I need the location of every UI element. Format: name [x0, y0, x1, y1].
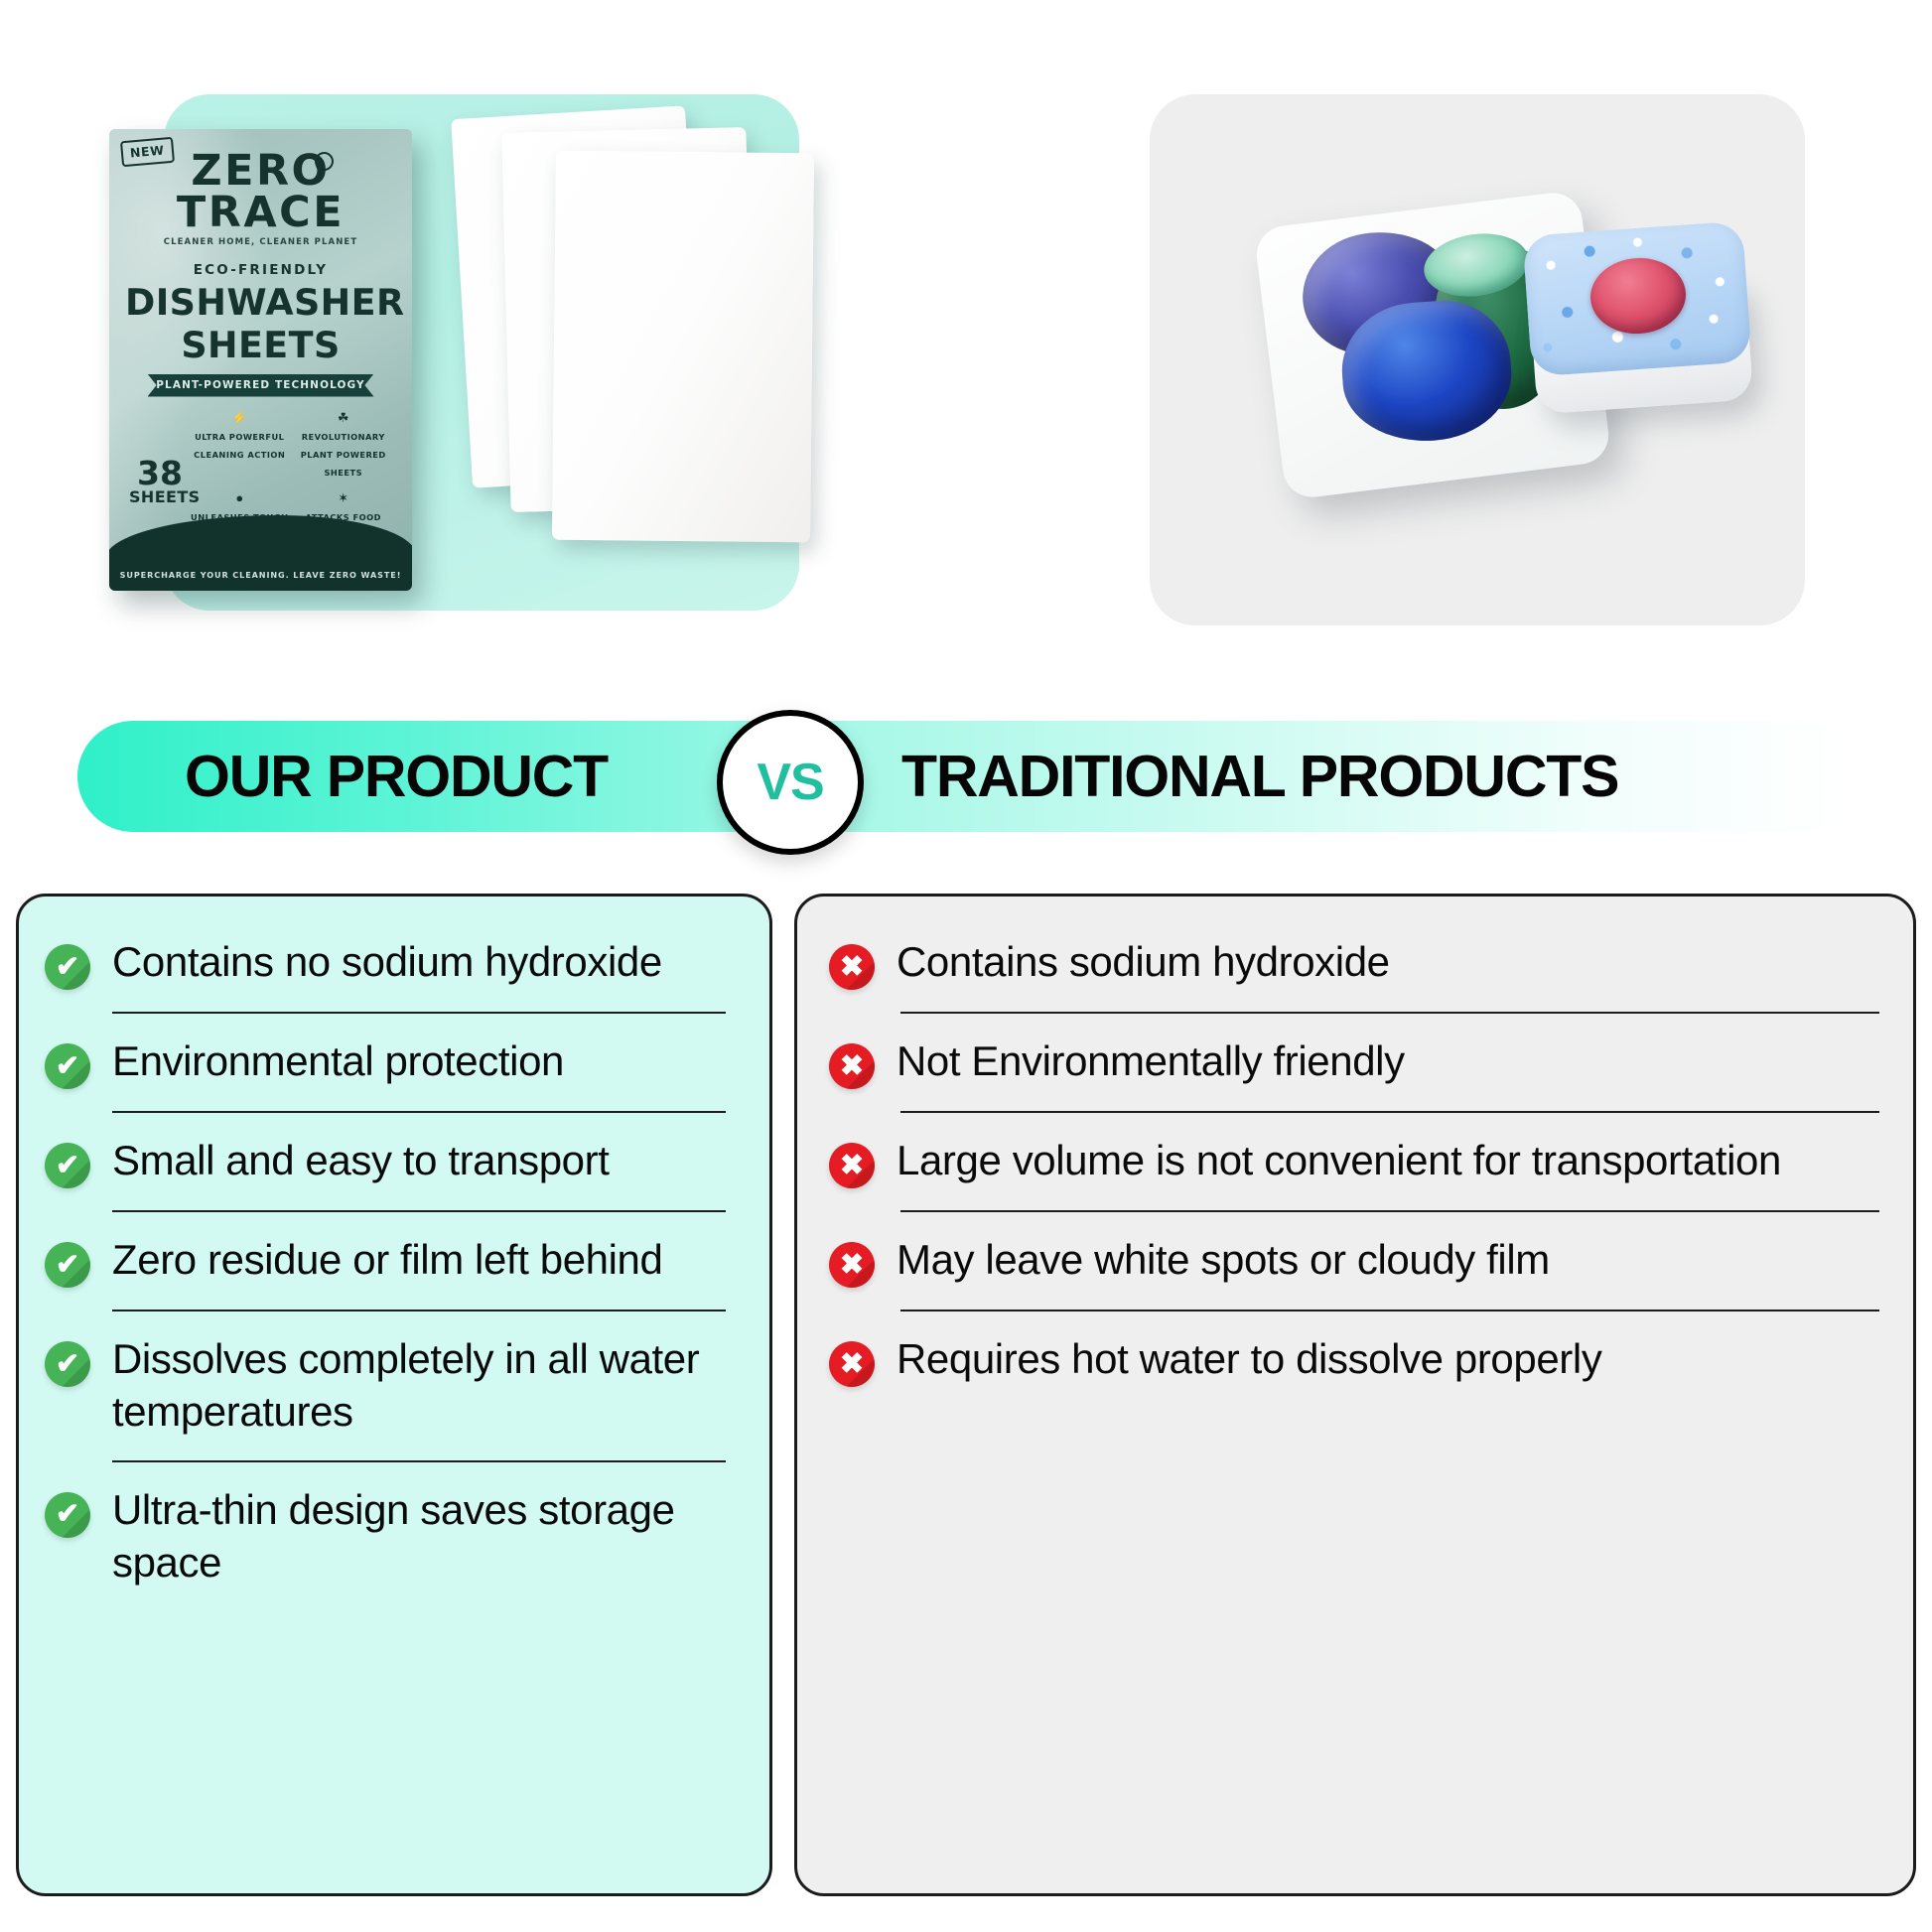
- list-item-label: Zero residue or film left behind: [112, 1234, 662, 1287]
- sheet-count-word: SHEETS: [129, 487, 191, 506]
- eco-friendly-label: ECO-FRIENDLY: [125, 262, 396, 278]
- package-title-line1: DISHWASHER: [125, 285, 396, 321]
- technology-ribbon: PLANT-POWERED TECHNOLOGY: [148, 374, 374, 397]
- list-divider: [900, 1310, 1879, 1311]
- brand-tagline: CLEANER HOME, CLEANER PLANET: [125, 237, 396, 247]
- list-item: ✔ Environmental protection: [45, 1035, 726, 1089]
- sheet-count-number: 38: [129, 459, 191, 488]
- list-item-label: Contains no sodium hydroxide: [112, 936, 662, 989]
- list-item: ✖ Not Environmentally friendly: [829, 1035, 1879, 1089]
- list-item: ✖ Large volume is not convenient for tra…: [829, 1135, 1879, 1188]
- check-icon: ✔: [45, 1492, 90, 1538]
- cross-icon: ✖: [829, 1143, 875, 1188]
- list-item: ✖ Requires hot water to dissolve properl…: [829, 1333, 1879, 1387]
- list-divider: [112, 1310, 726, 1311]
- check-icon: ✔: [45, 1341, 90, 1387]
- brand-lockup: ZERO TRACE CLEANER HOME, CLEANER PLANET: [125, 151, 396, 247]
- traditional-product-photo-panel: [1150, 94, 1805, 625]
- list-item-label: May leave white spots or cloudy film: [897, 1234, 1550, 1287]
- list-divider: [112, 1012, 726, 1014]
- check-icon: ✔: [45, 1242, 90, 1288]
- our-product-benefits-card: ✔ Contains no sodium hydroxide ✔ Environ…: [16, 894, 772, 1896]
- list-divider: [112, 1111, 726, 1113]
- cross-icon: ✖: [829, 944, 875, 990]
- list-item: ✔ Small and easy to transport: [45, 1135, 726, 1188]
- detergent-tablet-image: [1527, 228, 1760, 427]
- our-product-photo-panel: NEW ZERO TRACE CLEANER HOME, CLEANER PLA…: [164, 94, 799, 611]
- package-title-line2: SHEETS: [125, 328, 396, 363]
- brand-name-trace: TRACE: [125, 192, 396, 234]
- banner-traditional-products-label: TRADITIONAL PRODUCTS: [901, 713, 1618, 840]
- banner-our-product-label: OUR PRODUCT: [185, 713, 608, 840]
- bubbles-icon: ●: [191, 491, 289, 504]
- package-feature-item: ⚡ ULTRA POWERFUL CLEANING ACTION: [191, 411, 289, 481]
- traditional-product-drawbacks-card: ✖ Contains sodium hydroxide ✖ Not Enviro…: [794, 894, 1916, 1896]
- vs-label: VS: [757, 753, 823, 812]
- package-footer-text: SUPERCHARGE YOUR CLEANING. LEAVE ZERO WA…: [109, 570, 412, 580]
- list-divider: [112, 1460, 726, 1462]
- product-package: NEW ZERO TRACE CLEANER HOME, CLEANER PLA…: [109, 129, 412, 591]
- vs-banner: OUR PRODUCT VS TRADITIONAL PRODUCTS: [77, 713, 1855, 840]
- dishwasher-sheet-front: [552, 151, 814, 543]
- list-item-label: Ultra-thin design saves storage space: [112, 1484, 726, 1589]
- lightning-icon: ⚡: [191, 411, 289, 424]
- leaf-sheet-icon: ☘: [295, 411, 393, 424]
- list-item-label: Not Environmentally friendly: [897, 1035, 1405, 1088]
- list-divider: [900, 1012, 1879, 1014]
- cross-icon: ✖: [829, 1043, 875, 1089]
- hero-row: NEW ZERO TRACE CLEANER HOME, CLEANER PLA…: [0, 0, 1932, 685]
- list-item-label: Contains sodium hydroxide: [897, 936, 1390, 989]
- list-item-label: Requires hot water to dissolve properly: [897, 1333, 1601, 1386]
- check-icon: ✔: [45, 1043, 90, 1089]
- list-divider: [900, 1111, 1879, 1113]
- list-item: ✔ Ultra-thin design saves storage space: [45, 1484, 726, 1589]
- list-item: ✔ Dissolves completely in all water temp…: [45, 1333, 726, 1439]
- list-item-label: Environmental protection: [112, 1035, 564, 1088]
- list-divider: [900, 1210, 1879, 1212]
- check-icon: ✔: [45, 944, 90, 990]
- list-item: ✖ May leave white spots or cloudy film: [829, 1234, 1879, 1288]
- check-icon: ✔: [45, 1143, 90, 1188]
- list-item: ✔ Contains no sodium hydroxide: [45, 936, 726, 990]
- package-feature-text: REVOLUTIONARY PLANT POWERED SHEETS: [301, 432, 386, 478]
- list-item-label: Small and easy to transport: [112, 1135, 609, 1187]
- list-item: ✔ Zero residue or film left behind: [45, 1234, 726, 1288]
- list-divider: [112, 1210, 726, 1212]
- cross-icon: ✖: [829, 1341, 875, 1387]
- cross-icon: ✖: [829, 1242, 875, 1288]
- list-item-label: Large volume is not convenient for trans…: [897, 1135, 1781, 1187]
- comparison-section: ✔ Contains no sodium hydroxide ✔ Environ…: [0, 894, 1932, 1932]
- package-feature-item: ☘ REVOLUTIONARY PLANT POWERED SHEETS: [295, 411, 393, 481]
- brand-name-zero: ZERO: [191, 151, 330, 192]
- list-item-label: Dissolves completely in all water temper…: [112, 1333, 726, 1439]
- vs-badge: VS: [717, 710, 864, 855]
- package-feature-text: ULTRA POWERFUL CLEANING ACTION: [194, 432, 285, 460]
- sparkle-icon: ✶: [295, 491, 393, 504]
- new-badge: NEW: [120, 137, 175, 167]
- brand-zero-text: ZERO: [191, 146, 330, 196]
- list-item: ✖ Contains sodium hydroxide: [829, 936, 1879, 990]
